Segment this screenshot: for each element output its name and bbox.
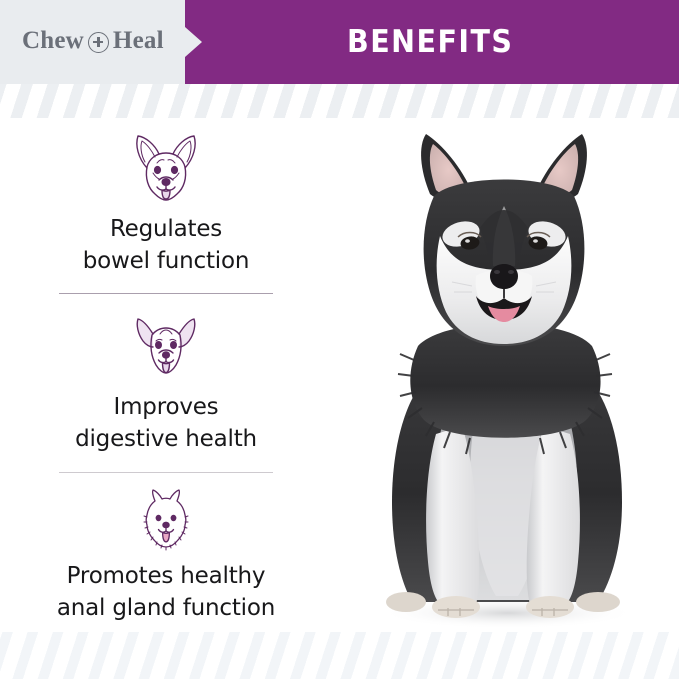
benefit-divider-2: [59, 472, 273, 473]
benefit-text-3-line1: Promotes healthy: [31, 561, 301, 593]
benefit-text-1-line2: bowel function: [31, 246, 301, 278]
brand-name-heal: Heal: [113, 27, 164, 55]
benefits-list: Regulates bowel function: [16, 128, 316, 624]
brand-logo: Chew Heal: [22, 27, 164, 55]
corgi-dog-face-icon: [123, 128, 209, 206]
benefit-item-1: Regulates bowel function: [16, 128, 316, 277]
benefit-text-1-line1: Regulates: [31, 214, 301, 246]
benefit-item-2: Improves digestive health: [16, 308, 316, 455]
benefit-text-2-line2: digestive health: [31, 424, 301, 456]
page-title: BENEFITS: [347, 20, 513, 64]
benefit-text-2: Improves digestive health: [31, 392, 301, 455]
terrier-dog-face-icon: [123, 308, 209, 384]
husky-dog-sitting-photo: [330, 110, 679, 635]
benefit-text-1: Regulates bowel function: [31, 214, 301, 277]
benefit-text-2-line1: Improves: [31, 392, 301, 424]
benefit-text-3-line2: anal gland function: [31, 593, 301, 625]
circle-plus-icon: [88, 32, 109, 53]
brand-name-chew: Chew: [22, 27, 84, 55]
diagonal-stripes-bottom: [0, 632, 679, 679]
benefit-text-3: Promotes healthy anal gland function: [31, 561, 301, 624]
benefit-divider-1: [59, 293, 273, 294]
header-bar: Chew Heal BENEFITS: [0, 0, 679, 84]
benefits-infographic: Chew Heal BENEFITS: [0, 0, 679, 679]
benefit-item-3: Promotes healthy anal gland function: [16, 487, 316, 624]
samoyed-dog-face-icon: [123, 487, 209, 553]
